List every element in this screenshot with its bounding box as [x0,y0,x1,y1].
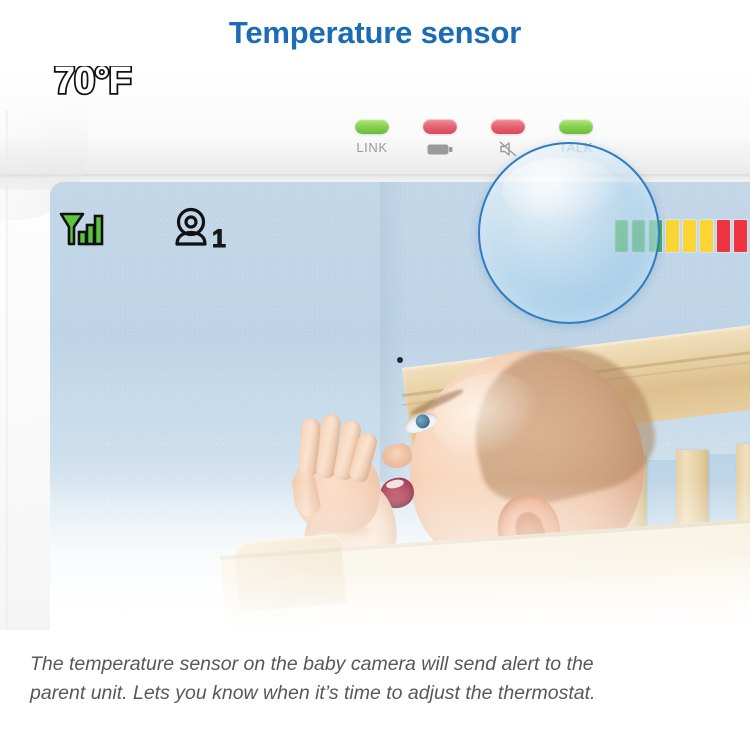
talk-led [559,119,593,134]
battery-icon [412,141,468,157]
magnifier-bubble [478,142,660,324]
led-group-battery [412,119,468,157]
signal-strength-icon [59,210,107,255]
temperature-readout: 70°F [54,60,131,103]
camera-indicator: 1 [172,207,226,252]
link-led-label: LINK [344,141,400,157]
magnifier-gloss [502,158,622,224]
product-feature-slide: Temperature sensor LINK [0,0,750,750]
caption-line-2: parent unit. Lets you know when it’s tim… [30,679,730,708]
page-title-bar: Temperature sensor [0,0,750,66]
link-led [355,119,389,134]
led-group-link: LINK [344,119,400,157]
temp-bar [683,220,696,252]
temp-bar [700,220,713,252]
baby-monitor-device: LINK [0,70,750,630]
temp-bar [734,220,747,252]
page-title: Temperature sensor [229,15,521,51]
caption-line-1: The temperature sensor on the baby camer… [30,650,730,679]
camera-icon [172,207,210,252]
camera-number: 1 [212,226,226,252]
mute-led [491,119,525,134]
caption: The temperature sensor on the baby camer… [30,650,730,708]
temp-bar [717,220,730,252]
temp-bar [666,220,679,252]
battery-led [423,119,457,134]
